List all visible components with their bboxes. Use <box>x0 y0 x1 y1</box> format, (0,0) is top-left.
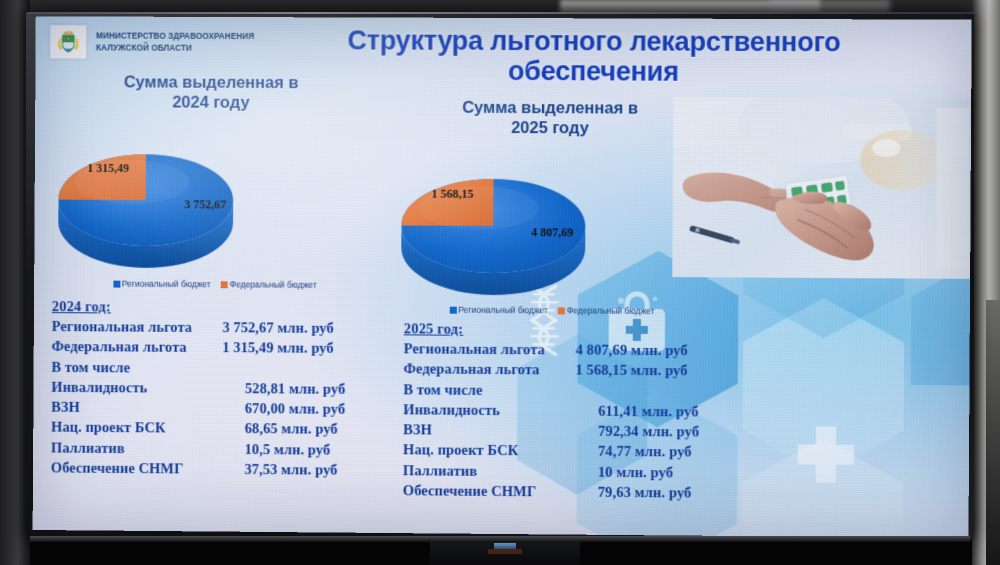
chart-2025-title-line2: 2025 году <box>385 118 715 140</box>
chart-2024-title-line1: Сумма выделенная в <box>47 72 375 93</box>
data-row: Паллиатив 10,5 млн. руб <box>51 438 399 461</box>
data-row: В том числе <box>51 357 399 380</box>
chart-2025-title: Сумма выделенная в 2025 году <box>385 97 716 139</box>
pie-chart-2024: 1 315,49 3 752,67 1 315,49 3 752,67 <box>46 122 375 278</box>
svg-text:1 568,15: 1 568,15 <box>432 187 474 201</box>
legend-label-federal: Федеральный бюджет <box>567 306 655 317</box>
data-row-label: Инвалидность <box>403 400 598 422</box>
data-block-2025: 2025 год: Региональная льгота 4 807,69 м… <box>403 321 765 504</box>
data-row-label: Федеральная льгота <box>403 360 575 382</box>
data-row-value: 670,00 млн. руб <box>245 399 346 420</box>
data-row: Инвалидность 611,41 млн. руб <box>403 400 764 423</box>
legend-label-federal: Федеральный бюджет <box>230 280 317 291</box>
pie-chart-2025: 1 568,15 4 807,69 1 568,15 4 807,69 <box>384 148 715 305</box>
chart-2024-title-line2: 2024 году <box>47 92 375 114</box>
data-row-label: Региональная льгота <box>52 317 223 338</box>
data-row-value: 611,41 млн. руб <box>598 402 698 423</box>
data-row: Федеральная льгота 1 315,49 млн. руб <box>52 337 400 360</box>
data-row-label: Региональная льгота <box>404 339 576 360</box>
legend-marker-regional-icon <box>449 306 456 313</box>
chart-2024: Сумма выделенная в 2024 году <box>46 72 375 290</box>
data-row: ВЗН 792,34 млн. руб <box>403 420 764 443</box>
data-row-value: 4 807,69 млн. руб <box>576 341 688 362</box>
ministry-name-line2: КАЛУЖСКОЙ ОБЛАСТИ <box>96 42 254 54</box>
data-row-label: В том числе <box>51 357 222 378</box>
svg-text:4 807,69: 4 807,69 <box>531 225 573 239</box>
data-row: Федеральная льгота 1 568,15 млн. руб <box>403 360 764 383</box>
data-row: Обеспечение СНМГ 79,63 млн. руб <box>403 481 764 504</box>
doctor-handing-pills-photo <box>672 97 971 279</box>
legend-marker-federal-icon <box>558 307 565 314</box>
data-row-label: Инвалидность <box>51 378 245 400</box>
legend-item-regional-2025: Региональный бюджет <box>449 305 547 316</box>
presentation-slide: МИНИСТЕРСТВО ЗДРАВООХРАНЕНИЯ КАЛУЖСКОЙ О… <box>33 16 972 538</box>
data-row-value: 10 млн. руб <box>598 463 673 484</box>
data-row: В том числе <box>403 380 764 403</box>
svg-text:1 315,49: 1 315,49 <box>87 161 129 175</box>
monitor-bezel-highlight <box>26 12 974 14</box>
legend-marker-federal-icon <box>221 281 228 288</box>
chart-2024-title: Сумма выделенная в 2024 году <box>47 72 375 114</box>
data-row: Инвалидность 528,81 млн. руб <box>51 378 399 401</box>
data-row: Региональная льгота 4 807,69 млн. руб <box>404 339 765 362</box>
data-row-value: 37,53 млн. руб <box>244 460 337 481</box>
data-row-value: 74,77 млн. руб <box>598 442 692 463</box>
data-row-label: Обеспечение СНМГ <box>403 481 598 503</box>
legend-label-regional: Региональный бюджет <box>122 279 211 290</box>
svg-text:3 752,67: 3 752,67 <box>184 198 226 212</box>
data-block-2024-rows: Региональная льгота 3 752,67 млн. руб Фе… <box>51 317 400 481</box>
data-row-value: 792,34 млн. руб <box>598 422 699 443</box>
data-row-label: ВЗН <box>403 420 598 442</box>
data-row-value: 10,5 млн. руб <box>245 440 331 461</box>
data-block-2025-rows: Региональная льгота 4 807,69 млн. руб Фе… <box>403 339 765 504</box>
data-row-value: 68,65 млн. руб <box>245 420 338 441</box>
data-block-2024: 2024 год: Региональная льгота 3 752,67 м… <box>51 299 400 481</box>
ministry-logo-block: МИНИСТЕРСТВО ЗДРАВООХРАНЕНИЯ КАЛУЖСКОЙ О… <box>49 24 254 60</box>
data-row-label: Федеральная льгота <box>52 337 223 358</box>
chart-2025: Сумма выделенная в 2025 году <box>384 97 716 316</box>
data-row-label: Паллиатив <box>403 461 598 483</box>
data-row-label: В том числе <box>403 380 575 402</box>
data-block-2024-heading: 2024 год: <box>52 299 400 318</box>
data-row-label: Паллиатив <box>51 438 245 460</box>
legend-label-regional: Региональный бюджет <box>458 305 547 316</box>
chart-2025-title-line1: Сумма выделенная в <box>385 97 715 119</box>
data-row-label: ВЗН <box>51 398 245 420</box>
data-row-value: 3 752,67 млн. руб <box>222 318 333 339</box>
ministry-name-line1: МИНИСТЕРСТВО ЗДРАВООХРАНЕНИЯ <box>96 30 254 42</box>
legend-marker-regional-icon <box>113 280 120 287</box>
screenshot-stage: МИНИСТЕРСТВО ЗДРАВООХРАНЕНИЯ КАЛУЖСКОЙ О… <box>0 0 1000 565</box>
monitor-stand-highlight <box>488 549 522 554</box>
data-row: ВЗН 670,00 млн. руб <box>51 398 399 421</box>
legend-2025: Региональный бюджет Федеральный бюджет <box>384 305 714 317</box>
data-row-label: Нац. проект БСК <box>403 441 598 463</box>
data-row-value: 79,63 млн. руб <box>598 483 692 504</box>
data-row-value: 528,81 млн. руб <box>245 379 346 400</box>
kaluga-coat-of-arms-icon <box>49 24 87 59</box>
data-row: Нац. проект БСК 68,65 млн. руб <box>51 418 399 441</box>
data-row-value: 1 568,15 млн. руб <box>575 361 687 382</box>
display-screen: МИНИСТЕРСТВО ЗДРАВООХРАНЕНИЯ КАЛУЖСКОЙ О… <box>33 16 972 538</box>
data-row-label: Обеспечение СНМГ <box>51 459 245 481</box>
legend-item-regional-2024: Региональный бюджет <box>113 279 211 290</box>
wall-right-shadow <box>986 300 1000 565</box>
data-row: Региональная льгота 3 752,67 млн. руб <box>52 317 400 340</box>
data-row-value: 1 315,49 млн. руб <box>222 338 333 359</box>
legend-2024: Региональный бюджет Федеральный бюджет <box>46 278 374 290</box>
legend-item-federal-2024: Федеральный бюджет <box>221 280 317 291</box>
data-row: Обеспечение СНМГ 37,53 млн. руб <box>51 459 399 482</box>
data-row-label: Нац. проект БСК <box>51 418 245 440</box>
legend-item-federal-2025: Федеральный бюджет <box>558 306 655 317</box>
ministry-name: МИНИСТЕРСТВО ЗДРАВООХРАНЕНИЯ КАЛУЖСКОЙ О… <box>96 30 254 54</box>
data-block-2025-heading: 2025 год: <box>404 321 765 340</box>
data-row: Нац. проект БСК 74,77 млн. руб <box>403 441 764 464</box>
